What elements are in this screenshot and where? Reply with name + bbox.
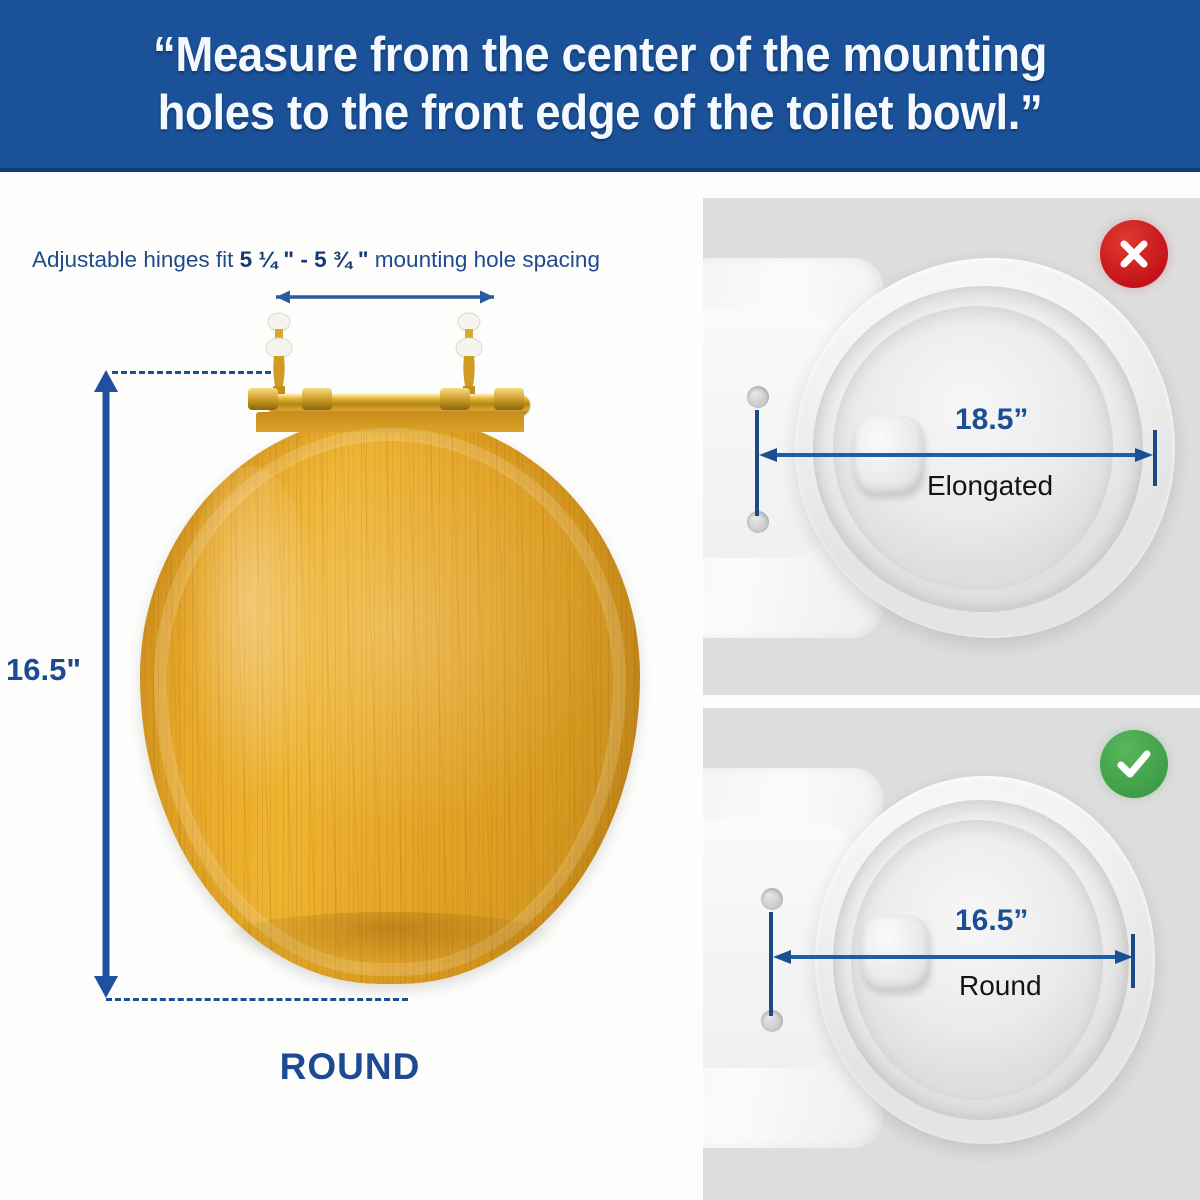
infographic-root: “Measure from the center of the mounting… [0,0,1200,1200]
height-dimension-label: 16.5" [6,652,81,688]
status-badge-incorrect [1100,220,1168,288]
seat-lid-wood [140,414,640,984]
header-line-2: holes to the front edge of the toilet bo… [79,84,1121,142]
left-product-panel: Adjustable hinges fit 5 ¼ " - 5 ¾ " moun… [0,176,700,1200]
mounting-hole-top [761,888,783,910]
seat-hinge-edge [256,412,524,432]
panel-elongated: 18.5” Elongated [703,198,1200,695]
hinge-nut [248,388,278,410]
hinge-nut [440,388,470,410]
measurement-value-round: 16.5” [955,904,1028,938]
measurement-arrow-icon [755,444,1157,466]
hole-spacing-arrow-icon [262,288,508,306]
measurement-value-elongated: 18.5” [955,403,1028,437]
shape-label-round: ROUND [0,1046,700,1088]
hinge-spacing-note: Adjustable hinges fit 5 ¼ " - 5 ¾ " moun… [32,246,692,274]
mounting-hole-top [747,386,769,408]
hinge-nut [302,388,332,410]
status-badge-correct [1100,730,1168,798]
panel-round: 16.5” Round [703,708,1200,1200]
hinge-note-range: 5 ¼ " - 5 ¾ " [240,247,369,272]
cross-icon [1114,234,1154,274]
hinge-nut [494,388,524,410]
header-text-block: “Measure from the center of the mounting… [40,26,1160,142]
header-line-1: “Measure from the center of the mounting [79,26,1121,84]
hinge-note-prefix: Adjustable hinges fit [32,247,240,272]
check-icon [1112,742,1156,786]
bowl-shape-name-elongated: Elongated [927,470,1053,502]
wooden-toilet-seat-image [120,316,660,1016]
bowl-shape-name-round: Round [959,970,1042,1002]
measurement-arrow-icon [769,946,1137,968]
header-banner: “Measure from the center of the mounting… [0,0,1200,172]
hinge-note-suffix: mounting hole spacing [369,247,600,272]
